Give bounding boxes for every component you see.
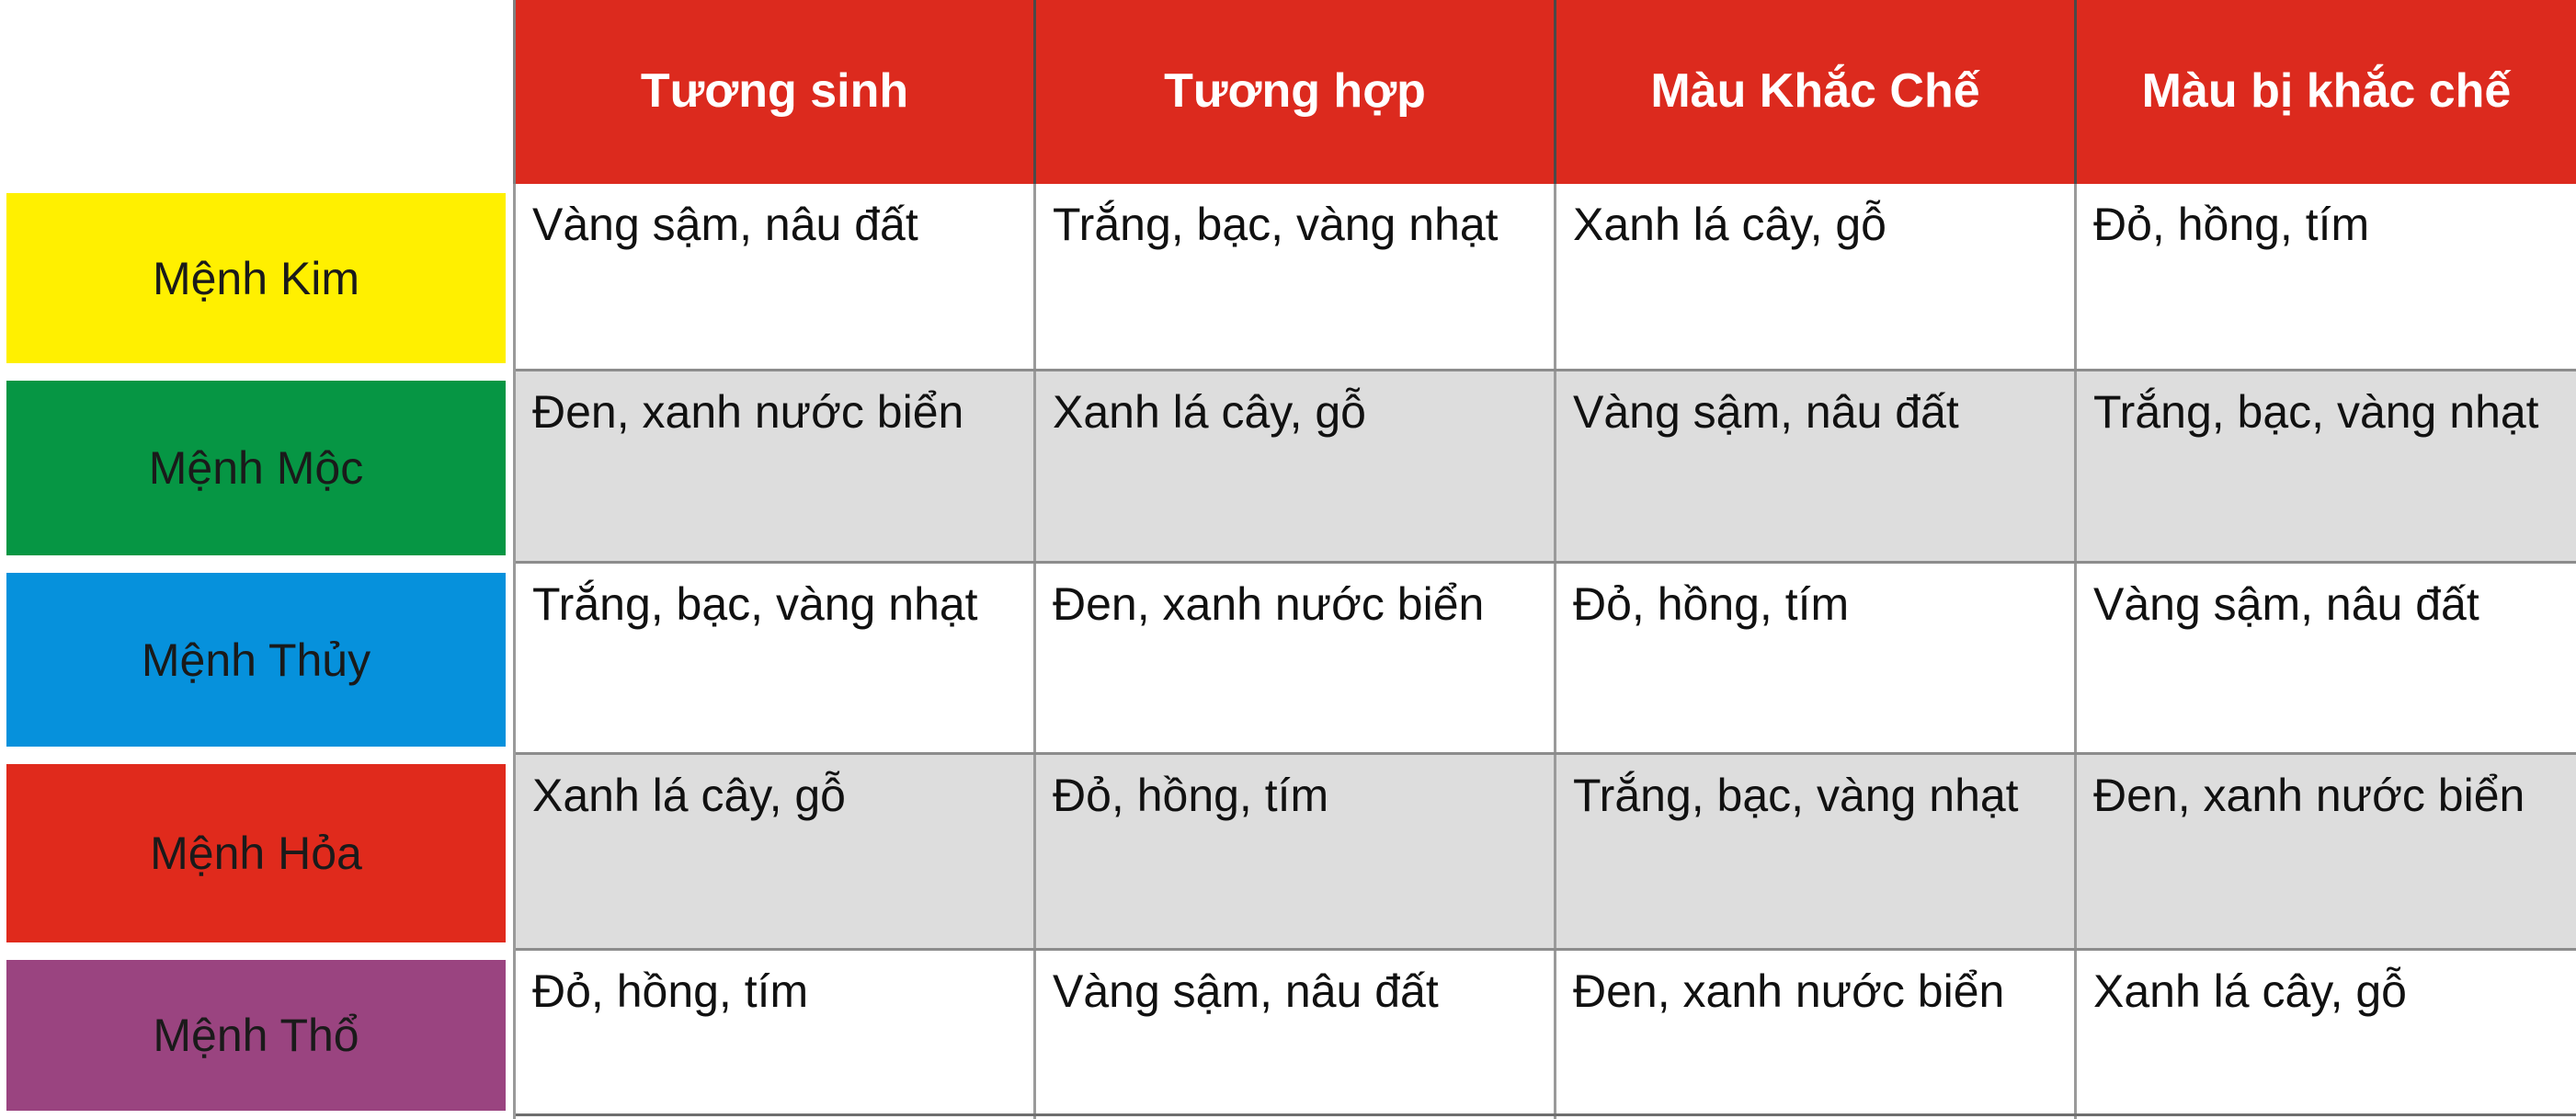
column-header-label: Màu Khắc Chế xyxy=(1650,65,1979,118)
color-swatch-moc: Mệnh Mộc xyxy=(6,381,506,555)
element-label: Mệnh Thủy xyxy=(142,637,370,683)
table-cell: Trắng, bạc, vàng nhạt xyxy=(516,564,1036,755)
table-row-element-moc: Mệnh Mộc xyxy=(0,371,516,564)
table-corner-cell xyxy=(0,0,516,184)
table-cell: Đen, xanh nước biển xyxy=(516,371,1036,564)
table-cell: Trắng, bạc, vàng nhạt xyxy=(1036,184,1556,371)
table-cell: Đen, xanh nước biển xyxy=(2077,755,2576,951)
column-header-mau-bi-khac-che: Màu bị khắc chế xyxy=(2077,0,2576,184)
color-swatch-thuy: Mệnh Thủy xyxy=(6,573,506,747)
table-cell: Xanh lá cây, gỗ xyxy=(1036,371,1556,564)
table-cell: Xanh lá cây, gỗ xyxy=(1556,184,2077,371)
table-cell: Trắng, bạc, vàng nhạt xyxy=(1556,755,2077,951)
color-swatch-tho: Mệnh Thổ xyxy=(6,960,506,1111)
element-label: Mệnh Hỏa xyxy=(150,830,362,876)
table-cell: Xanh lá cây, gỗ xyxy=(516,755,1036,951)
column-header-tuong-hop: Tương hợp xyxy=(1036,0,1556,184)
table-cell: Đen, xanh nước biển xyxy=(1036,564,1556,755)
table-cell: Vàng sậm, nâu đất xyxy=(2077,564,2576,755)
row-divider xyxy=(516,948,2576,951)
table-row-element-tho: Mệnh Thổ xyxy=(0,951,516,1119)
table-cell: Đỏ, hồng, tím xyxy=(2077,184,2576,371)
color-swatch-hoa: Mệnh Hỏa xyxy=(6,764,506,942)
element-label: Mệnh Thổ xyxy=(153,1012,359,1058)
table-cell: Vàng sậm, nâu đất xyxy=(1556,371,2077,564)
table-cell: Xanh lá cây, gỗ xyxy=(2077,951,2576,1119)
table-cell: Vàng sậm, nâu đất xyxy=(1036,951,1556,1119)
column-header-label: Tương sinh xyxy=(641,65,908,118)
table-bottom-border xyxy=(516,1113,2576,1116)
column-header-mau-khac-che: Màu Khắc Chế xyxy=(1556,0,2077,184)
table-cell: Vàng sậm, nâu đất xyxy=(516,184,1036,371)
table-row-element-thuy: Mệnh Thủy xyxy=(0,564,516,755)
element-label: Mệnh Kim xyxy=(153,256,359,302)
element-label: Mệnh Mộc xyxy=(149,445,363,491)
row-divider xyxy=(516,369,2576,371)
table-row-element-hoa: Mệnh Hỏa xyxy=(0,755,516,951)
column-header-tuong-sinh: Tương sinh xyxy=(516,0,1036,184)
row-divider xyxy=(516,561,2576,564)
row-divider xyxy=(516,752,2576,755)
column-header-label: Màu bị khắc chế xyxy=(2142,65,2512,118)
color-swatch-kim: Mệnh Kim xyxy=(6,193,506,363)
table-cell: Đỏ, hồng, tím xyxy=(516,951,1036,1119)
table-cell: Trắng, bạc, vàng nhạt xyxy=(2077,371,2576,564)
column-header-label: Tương hợp xyxy=(1164,65,1426,118)
table-cell: Đỏ, hồng, tím xyxy=(1036,755,1556,951)
table-cell: Đỏ, hồng, tím xyxy=(1556,564,2077,755)
table-grid: Tương sinh Tương hợp Màu Khắc Chế Màu bị… xyxy=(0,0,2576,1119)
table-cell: Đen, xanh nước biển xyxy=(1556,951,2077,1119)
feng-shui-color-table: Tương sinh Tương hợp Màu Khắc Chế Màu bị… xyxy=(0,0,2576,1119)
table-row-element-kim: Mệnh Kim xyxy=(0,184,516,371)
